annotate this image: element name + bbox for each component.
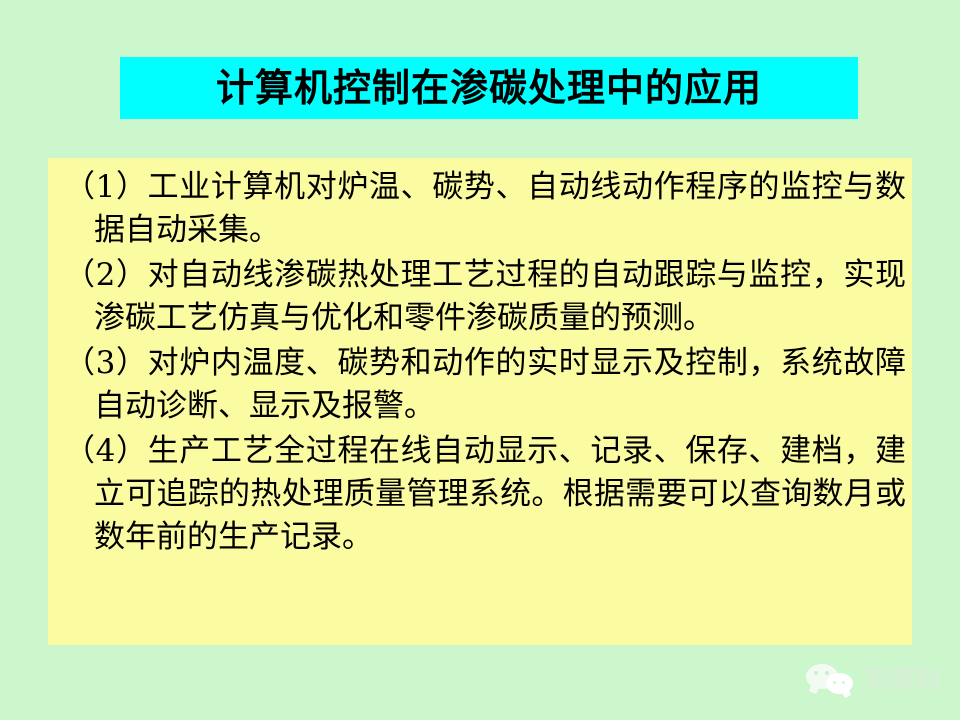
slide-canvas: 计算机控制在渗碳处理中的应用 （1）工业计算机对炉温、碳势、自动线动作程序的监控… [0,0,960,720]
list-item: （1）工业计算机对炉温、碳势、自动线动作程序的监控与数据自动采集。 [60,166,906,252]
list-item: （3）对炉内温度、碳势和动作的实时显示及控制，系统故障自动诊断、显示及报警。 [60,342,906,428]
watermark: 热家网 [806,662,940,696]
page-title: 计算机控制在渗碳处理中的应用 [216,69,762,107]
watermark-label: 热家网 [865,667,940,692]
list-item: （4）生产工艺全过程在线自动显示、记录、保存、建档，建立可追踪的热处理质量管理系… [60,430,906,559]
content-body: （1）工业计算机对炉温、碳势、自动线动作程序的监控与数据自动采集。 （2）对自动… [48,158,912,645]
wechat-icon [806,662,858,696]
title-banner: 计算机控制在渗碳处理中的应用 [120,57,858,119]
list-item: （2）对自动线渗碳热处理工艺过程的自动跟踪与监控，实现渗碳工艺仿真与优化和零件渗… [60,254,906,340]
